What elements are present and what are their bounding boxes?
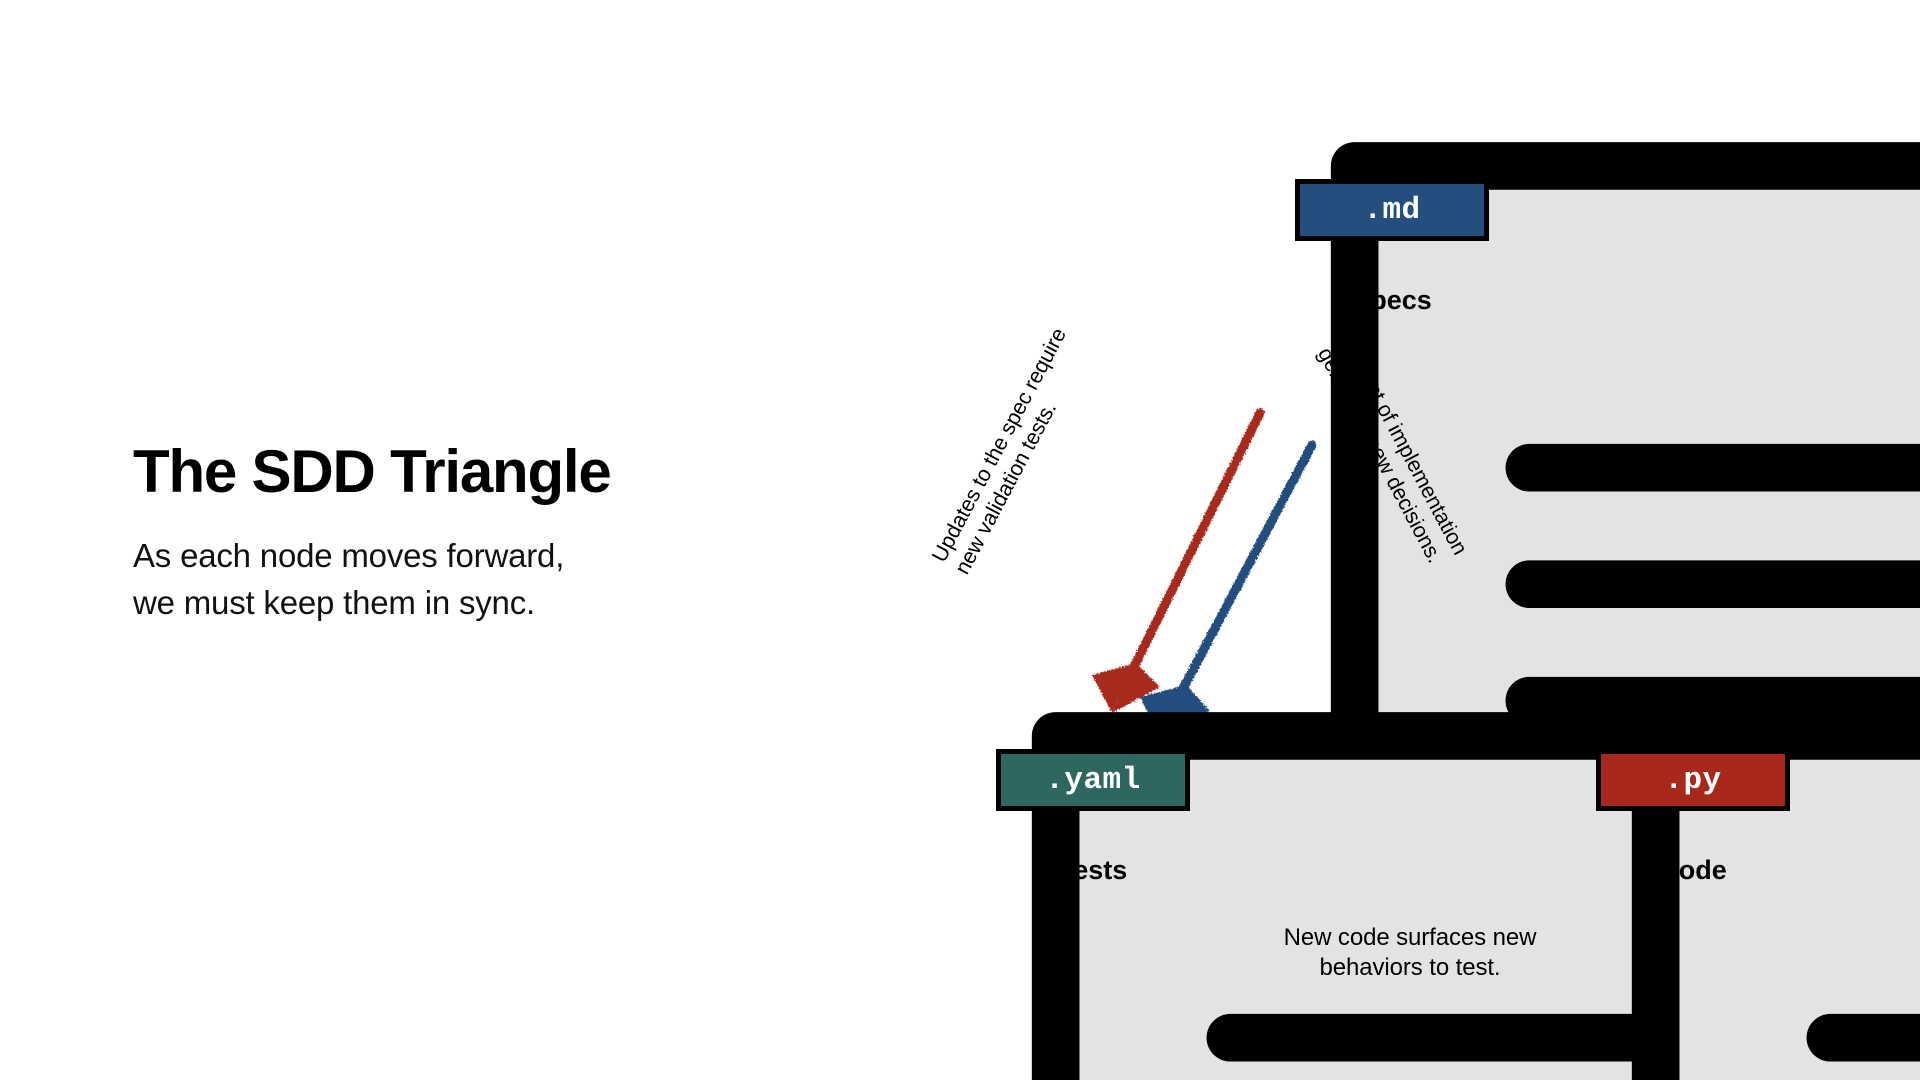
file-extension-badge-md: .md xyxy=(1295,179,1489,241)
document-icon: .yaml xyxy=(1008,683,1178,851)
slide-canvas: The SDD Triangle As each node moves forw… xyxy=(0,0,1920,1080)
subtitle-line-2: we must keep them in sync. xyxy=(133,580,833,627)
node-label-code: Code xyxy=(1659,855,1727,886)
sdd-triangle-diagram: .md Specs .yaml Tests xyxy=(960,95,1860,995)
file-extension-badge-yaml: .yaml xyxy=(996,749,1190,811)
document-icon: .md xyxy=(1307,113,1477,281)
file-extension-badge-py: .py xyxy=(1596,749,1790,811)
node-tests[interactable]: .yaml Tests xyxy=(1008,683,1178,851)
node-specs[interactable]: .md Specs xyxy=(1307,113,1477,281)
node-code[interactable]: .py Code xyxy=(1608,683,1778,851)
document-shape-icon xyxy=(1608,683,1920,1080)
slide-text-block: The SDD Triangle As each node moves forw… xyxy=(133,440,833,627)
slide-subtitle: As each node moves forward, we must keep… xyxy=(133,533,833,627)
subtitle-line-1: As each node moves forward, xyxy=(133,533,833,580)
edge-label-bottom-line-1: New code surfaces new xyxy=(960,923,1860,953)
node-label-tests: Tests xyxy=(1059,855,1128,886)
node-label-specs: Specs xyxy=(1352,285,1432,316)
edge-label-tests-code: New code surfaces new behaviors to test. xyxy=(960,923,1860,983)
arrow-tests-to-specs xyxy=(1092,413,1260,713)
edge-label-bottom-line-2: behaviors to test. xyxy=(960,953,1860,983)
document-icon: .py xyxy=(1608,683,1778,851)
page-title: The SDD Triangle xyxy=(133,440,833,503)
